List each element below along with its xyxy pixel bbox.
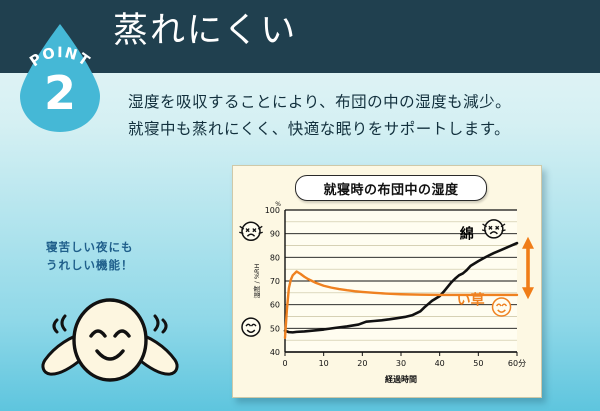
sweating-face-icon (239, 222, 262, 240)
point-badge: POINT 2 (14, 22, 106, 134)
xtick-label-60: 60分 (508, 359, 526, 368)
ytick-label-70: 70 (270, 277, 280, 286)
humidity-chart: 4050607080901000102030405060分%経過時間湿度 / %… (233, 166, 541, 397)
xtick-label-40: 40 (435, 359, 445, 368)
y-axis-title: 湿度 / %RH (252, 263, 261, 298)
happy-mascot-icon (25, 288, 195, 383)
page-title: 蒸れにくい (113, 14, 297, 49)
difference-arrow-head-down (522, 287, 534, 299)
xtick-label-10: 10 (319, 359, 329, 368)
difference-arrow-head-up (522, 237, 534, 249)
point-number: 2 (14, 70, 106, 116)
xtick-label-20: 20 (357, 359, 367, 368)
illustration-caption: 寝苦しい夜にも うれしい機能！ (46, 239, 134, 275)
ytick-label-80: 80 (270, 253, 280, 262)
ytick-label-50: 50 (270, 324, 280, 333)
igusa-series-label: い草 (457, 292, 485, 309)
xtick-label-30: 30 (396, 359, 406, 368)
xtick-label-50: 50 (473, 359, 483, 368)
ytick-label-40: 40 (270, 348, 280, 357)
body-line-2: 就寝中も蒸れにくく、快適な眠りをサポートします。 (128, 116, 511, 143)
ad-panel: 蒸れにくい POINT 2 湿度を吸収することにより、布団の中の湿度も減少。 就… (0, 0, 600, 411)
body-copy: 湿度を吸収することにより、布団の中の湿度も減少。 就寝中も蒸れにくく、快適な眠り… (128, 89, 511, 143)
igusa-smiling-face-icon (493, 298, 511, 316)
xtick-label-0: 0 (282, 359, 287, 368)
y-unit-label: % (275, 201, 281, 208)
ytick-label-90: 90 (270, 230, 280, 239)
body-line-1: 湿度を吸収することにより、布団の中の湿度も減少。 (128, 89, 511, 116)
smiling-face-icon (242, 318, 260, 336)
chart-panel: 就寝時の布団中の湿度 4050607080901000102030405060分… (232, 165, 542, 398)
ytick-label-60: 60 (270, 301, 280, 310)
illustration-caption-line-2: うれしい機能！ (46, 257, 134, 275)
x-axis-title: 経過時間 (385, 374, 417, 384)
cotton-series-label: 綿 (460, 225, 474, 242)
illustration-caption-line-1: 寝苦しい夜にも (46, 239, 134, 257)
